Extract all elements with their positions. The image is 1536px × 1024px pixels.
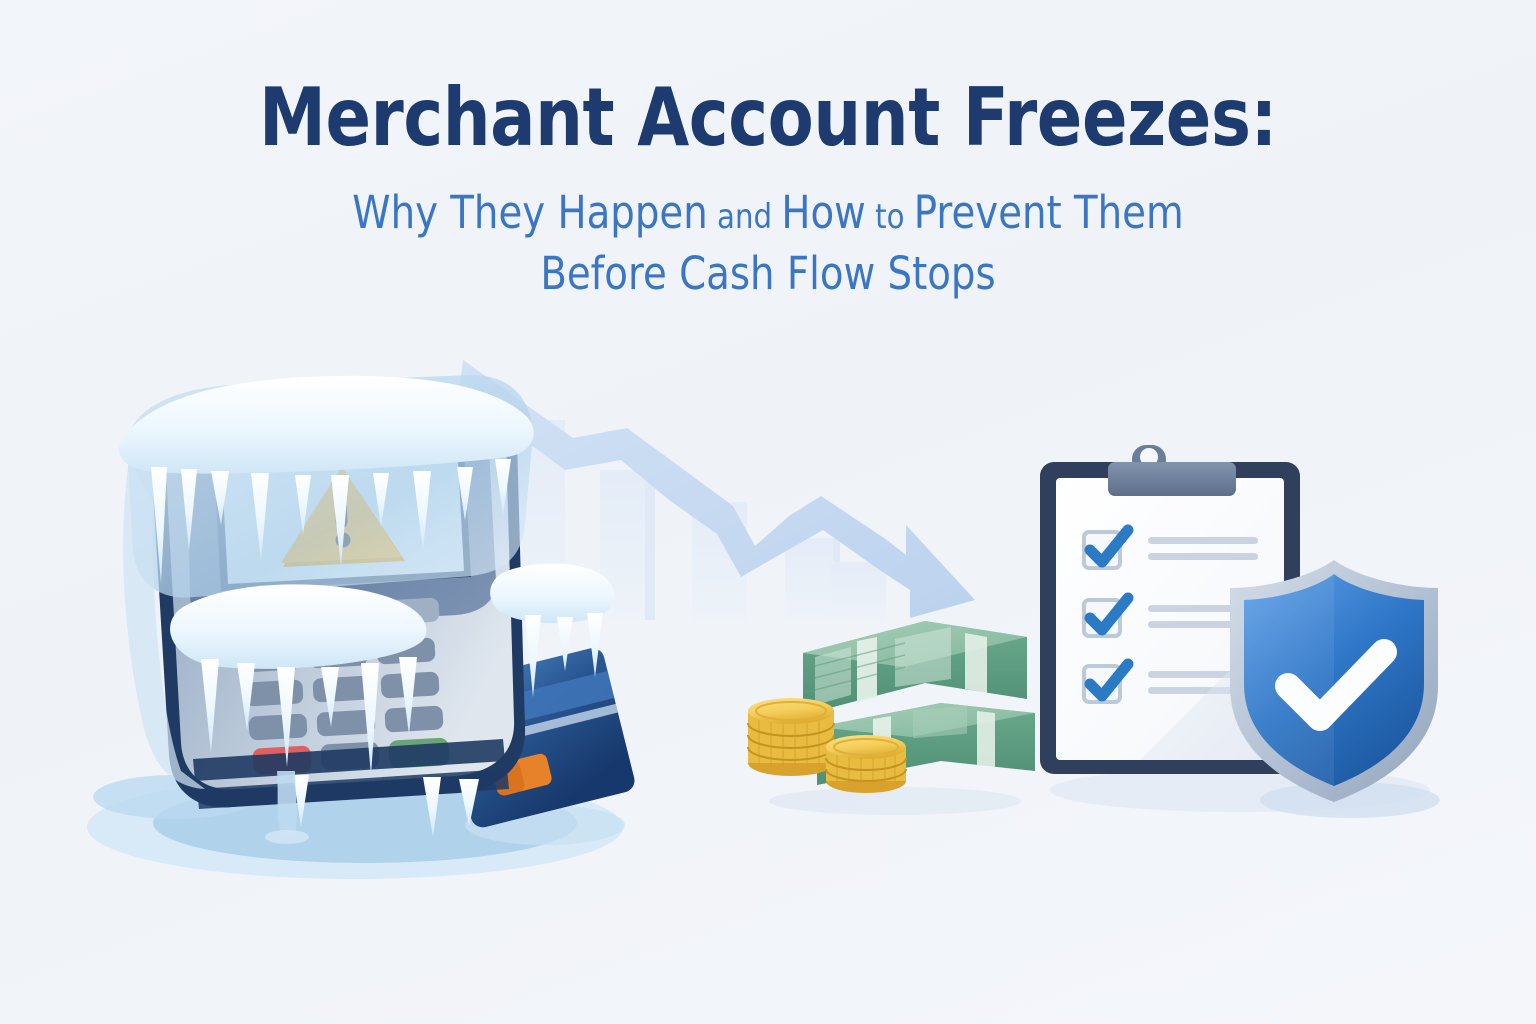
cash-bundle-upper (803, 621, 1027, 715)
clipboard-clip (1108, 445, 1236, 496)
subtitle-line-1: Why They Happen and How to Prevent Them (108, 182, 1429, 243)
subtitle-line1-part2: How (781, 186, 865, 239)
subtitle-line1-part3: Prevent Them (914, 186, 1184, 239)
hero-illustration-canvas: Merchant Account Freezes: Why They Happe… (0, 0, 1536, 1024)
compliance-checklist-and-shield (1020, 440, 1460, 840)
subtitle-line1-part1: Why They Happen (352, 186, 707, 239)
coin-stack-left (748, 698, 834, 776)
subtitle-line1-small2: to (866, 197, 914, 237)
subtitle-line1-small1: and (708, 197, 782, 237)
coin-stack-right (826, 735, 906, 793)
headline-block: Merchant Account Freezes: Why They Happe… (0, 78, 1536, 304)
cash-and-coins (745, 595, 1045, 825)
frozen-payment-terminal (55, 375, 695, 895)
page-subtitle: Why They Happen and How to Prevent Them … (108, 182, 1429, 304)
subtitle-line-2: Before Cash Flow Stops (108, 243, 1429, 304)
page-title: Merchant Account Freezes: (123, 78, 1413, 158)
